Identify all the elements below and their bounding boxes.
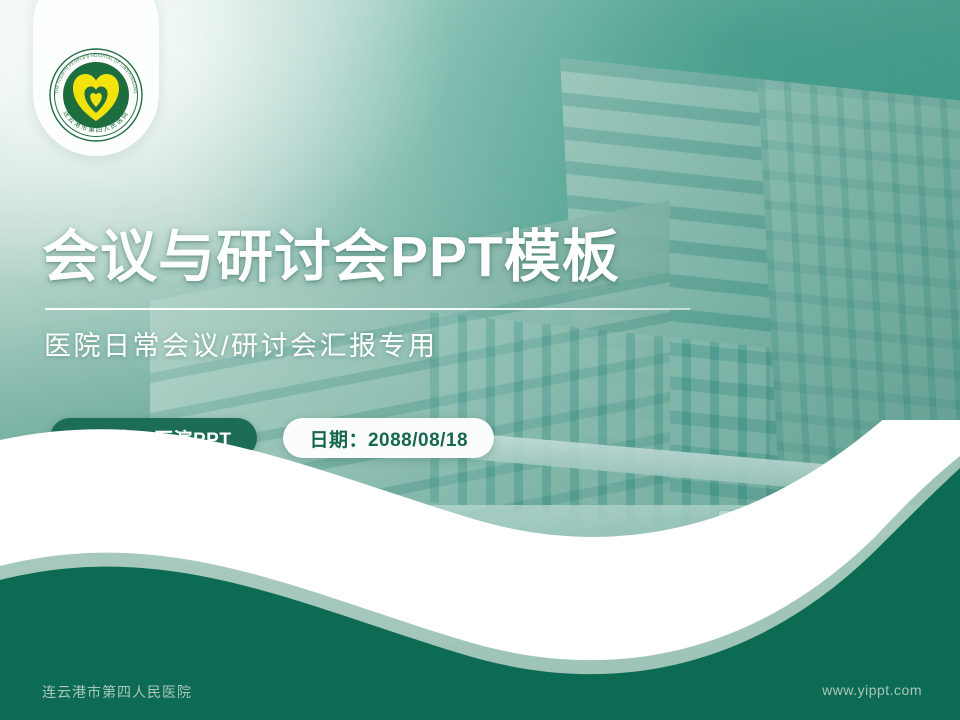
presentation-title-slide: THE FOURTH PEOPLE'S HOSPITAL OF LIANYUNG… — [0, 0, 960, 720]
title-divider — [45, 308, 690, 310]
bottom-wave-decoration — [0, 420, 960, 720]
footer-organization: 连云港市第四人民医院 — [42, 682, 192, 702]
hospital-logo-icon: THE FOURTH PEOPLE'S HOSPITAL OF LIANYUNG… — [48, 47, 144, 143]
footer-website[interactable]: www.yippt.com — [822, 682, 922, 698]
slide-title: 会议与研讨会PPT模板 — [42, 222, 620, 292]
slide-subtitle: 医院日常会议/研讨会汇报专用 — [44, 326, 438, 366]
